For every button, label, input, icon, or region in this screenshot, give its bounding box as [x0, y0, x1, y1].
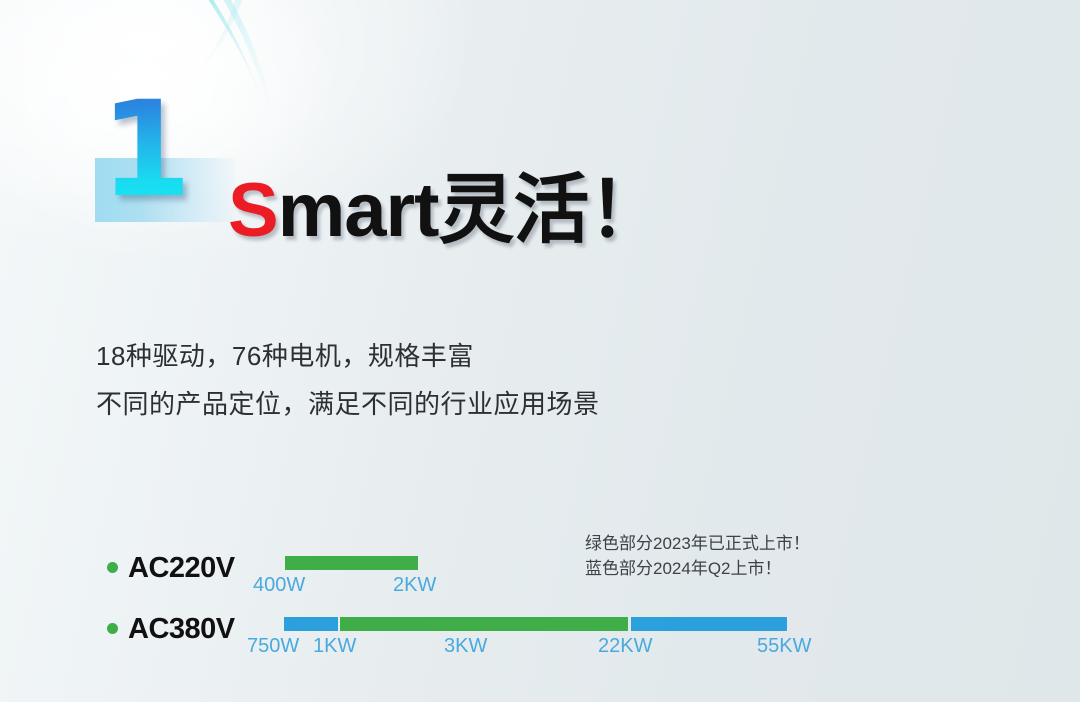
bullet-dot-ac380v [107, 623, 118, 634]
bar-segment-ac380v-1 [284, 617, 338, 631]
bar-segment-ac380v-2 [340, 617, 628, 631]
bar-segment-ac220v-1 [285, 556, 418, 570]
tick-label-750w: 750W [247, 635, 299, 658]
tick-label-1kw: 1KW [313, 635, 356, 658]
slide-root: 1 Smart灵活！ 18种驱动，76种电机，规格丰富 不同的产品定位，满足不同… [0, 0, 1080, 702]
tick-label-55kw: 55KW [757, 635, 811, 658]
chart-row-label-ac220v: AC220V [128, 552, 235, 585]
tick-label-2kw: 2KW [393, 574, 436, 597]
tick-label-3kw: 3KW [444, 635, 487, 658]
bar-segment-ac380v-3 [631, 617, 787, 631]
tick-label-400w: 400W [253, 574, 305, 597]
tick-label-22kw: 22KW [598, 635, 652, 658]
bullet-dot-ac220v [107, 562, 118, 573]
chart-row-label-ac380v: AC380V [128, 613, 235, 646]
range-chart: AC220V 400W 2KW AC380V 750W 1KW 3KW 22KW… [0, 0, 1080, 702]
